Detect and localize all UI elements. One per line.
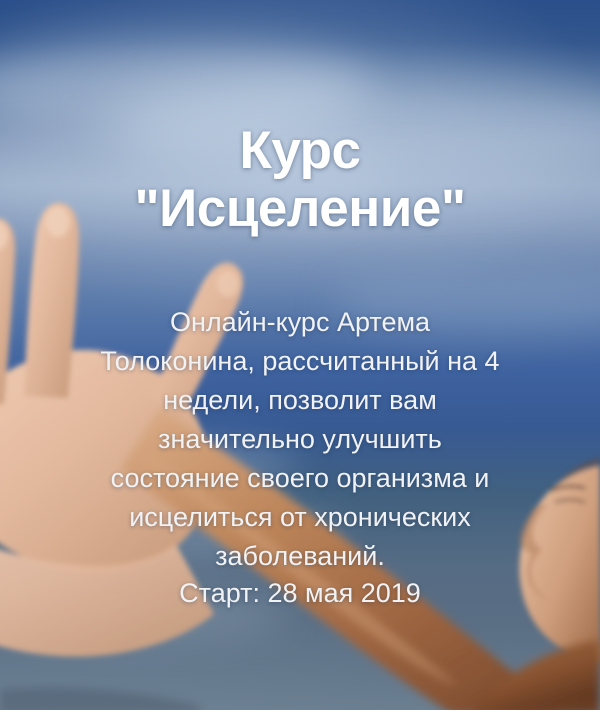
description-line-5: состояние своего организма и (100, 459, 499, 498)
description-line-3: недели, позволит вам (100, 381, 499, 420)
start-date: Старт: 28 мая 2019 (149, 578, 451, 610)
description-line-2: Толоконина, рассчитанный на 4 (100, 342, 499, 381)
course-description: Онлайн-курс Артема Толоконина, рассчитан… (70, 303, 529, 576)
poster-text-content: Курс "Исцеление" Онлайн-курс Артема Толо… (0, 0, 600, 710)
description-line-7: заболеваний. (100, 537, 499, 576)
description-line-4: значительно улучшить (100, 420, 499, 459)
description-line-1: Онлайн-курс Артема (100, 303, 499, 342)
headline-line-1: Курс (135, 122, 466, 180)
course-promo-poster: Курс "Исцеление" Онлайн-курс Артема Толо… (0, 0, 600, 710)
description-line-6: исцелиться от хронических (100, 498, 499, 537)
headline-line-2: "Исцеление" (135, 180, 466, 238)
page-title: Курс "Исцеление" (121, 122, 480, 238)
